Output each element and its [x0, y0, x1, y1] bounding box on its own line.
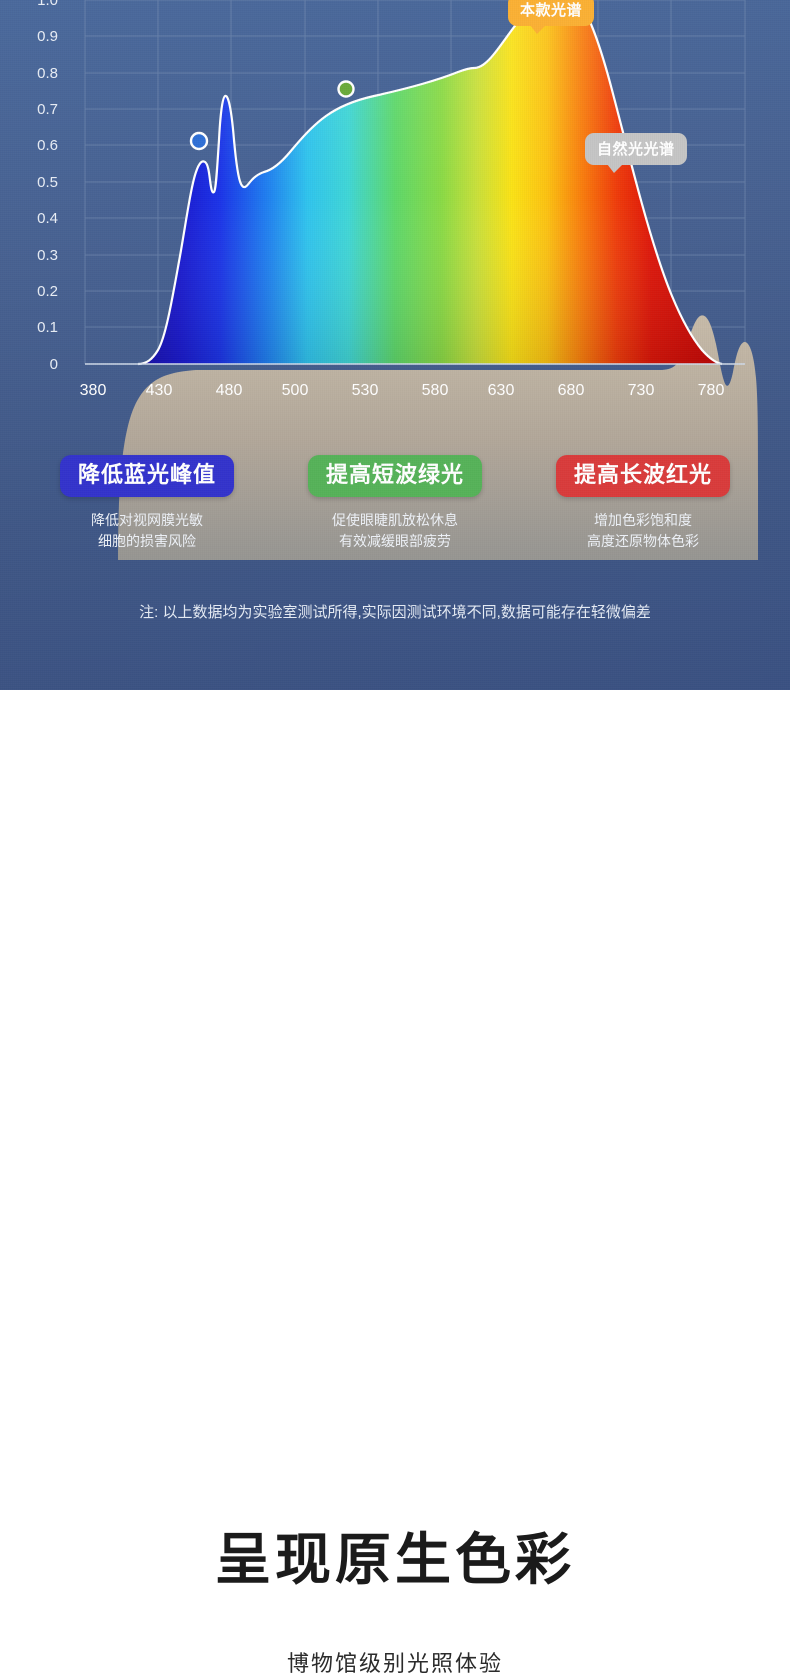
- y-tick-0-7: 0.7: [18, 102, 58, 117]
- callout-product-tail: [530, 25, 546, 34]
- feature-red-boost: 提高长波红光 增加色彩饱和度 高度还原物体色彩: [528, 455, 758, 552]
- x-tick-580: 580: [405, 383, 465, 399]
- chart-disclaimer-note: 注: 以上数据均为实验室测试所得,实际因测试环境不同,数据可能存在轻微偏差: [0, 603, 790, 623]
- callout-natural-label: 自然光光谱: [597, 141, 675, 158]
- feature-green-boost: 提高短波绿光 促使眼睫肌放松休息 有效减缓眼部疲劳: [280, 455, 510, 552]
- x-tick-730: 730: [611, 383, 671, 399]
- feature-desc-blue-peak: 降低对视网膜光敏 细胞的损害风险: [91, 510, 203, 552]
- product-spectrum-shading: [138, 0, 722, 364]
- callout-product-label: 本款光谱: [520, 2, 582, 19]
- feature-desc-green-boost: 促使眼睫肌放松休息 有效减缓眼部疲劳: [332, 510, 458, 552]
- x-tick-680: 680: [541, 383, 601, 399]
- y-tick-0: 0: [18, 357, 58, 372]
- hero-title: 呈现原生色彩: [0, 1530, 790, 1590]
- y-tick-0-8: 0.8: [18, 66, 58, 81]
- x-tick-430: 430: [129, 383, 189, 399]
- x-tick-780: 780: [681, 383, 741, 399]
- blue-peak-marker: [191, 133, 207, 149]
- y-tick-0-3: 0.3: [18, 248, 58, 263]
- y-tick-0-9: 0.9: [18, 29, 58, 44]
- callout-natural-spectrum: 自然光光谱: [585, 133, 687, 165]
- feature-badges-row: 降低蓝光峰值 降低对视网膜光敏 细胞的损害风险 提高短波绿光 促使眼睫肌放松休息…: [0, 455, 790, 552]
- callout-product-spectrum: 本款光谱: [508, 0, 594, 26]
- y-tick-0-4: 0.4: [18, 211, 58, 226]
- feature-blue-peak: 降低蓝光峰值 降低对视网膜光敏 细胞的损害风险: [32, 455, 262, 552]
- feature-badge-green-boost: 提高短波绿光: [308, 455, 482, 497]
- callout-natural-tail: [607, 164, 623, 173]
- hero-subtitle: 博物馆级别光照体验: [0, 1650, 790, 1678]
- x-tick-480: 480: [199, 383, 259, 399]
- y-tick-0-2: 0.2: [18, 284, 58, 299]
- y-tick-1-0: 1.0: [18, 0, 58, 8]
- y-tick-0-5: 0.5: [18, 175, 58, 190]
- green-peak-marker: [339, 82, 354, 97]
- y-tick-0-6: 0.6: [18, 138, 58, 153]
- x-tick-380: 380: [63, 383, 123, 399]
- x-tick-630: 630: [471, 383, 531, 399]
- feature-desc-red-boost: 增加色彩饱和度 高度还原物体色彩: [587, 510, 699, 552]
- y-tick-0-1: 0.1: [18, 320, 58, 335]
- x-tick-530: 530: [335, 383, 395, 399]
- x-tick-500: 500: [265, 383, 325, 399]
- feature-badge-red-boost: 提高长波红光: [556, 455, 730, 497]
- spectrum-panel: 1.0 0.9 0.8 0.7 0.6 0.5 0.4 0.3 0.2 0.1 …: [0, 0, 790, 690]
- feature-badge-blue-peak: 降低蓝光峰值: [60, 455, 234, 497]
- hero-section: 呈现原生色彩 博物馆级别光照体验: [0, 690, 790, 1013]
